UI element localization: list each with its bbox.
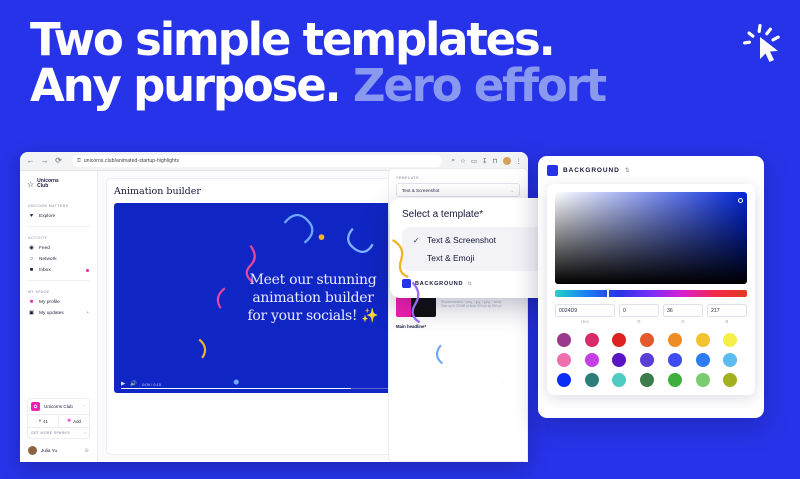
template-select-value: Text & Screenshot [402,188,439,193]
address-bar[interactable]: ⚿ unicorns.club/animated-startup-highlig… [72,155,442,167]
search-icon[interactable]: ⌕ [451,157,455,165]
color-swatch[interactable] [696,353,710,367]
g-caption: G [663,319,703,324]
color-swatch-grid [555,333,747,387]
sidebar-item-label: Network [39,257,89,262]
r-field-group: 0 R [619,304,659,324]
color-swatch[interactable] [585,373,599,387]
sparks-icon: ◑ [38,418,41,424]
network-icon: ○ [28,256,35,262]
profile-icon: ■ [28,299,35,305]
club-card: ✿ Unicorns Club ⌃ ◑ 41 ✚ Add [27,398,90,439]
page-title: Two simple templates. Any purpose. Zero … [30,18,770,108]
get-more-sparks-label: GET MORE SPARKS [31,431,70,435]
color-swatch[interactable] [557,333,571,347]
sidebar-section-label-unicorn-matters: UNICORN MATTERS [28,204,90,208]
video-text-line-3: for your socials! ✨ [248,307,379,325]
heart-icon: ♥ [28,213,35,219]
sidebar-divider-2 [27,280,90,281]
lock-icon: ⚿ [77,158,81,164]
sidebar-item-label: Explore [39,214,89,219]
stat-value: 41 [43,419,48,424]
stat-add[interactable]: ✚ Add [58,415,89,427]
club-header[interactable]: ✿ Unicorns Club ⌃ [28,399,89,414]
add-update-icon[interactable]: + [86,310,89,316]
video-progress-fill [121,388,351,389]
sidebar-item-my-updates[interactable]: ▣ My updates + [27,308,90,319]
user-avatar [28,446,37,455]
sidebar-divider-1 [27,226,90,227]
sidebar-section-label-my-space: MY SPACE [28,290,90,294]
b-field-group: 217 B [707,304,747,324]
headline-line-2: Any purpose. Zero effort [30,64,770,108]
app-sidebar: ☆ Unicorns Club UNICORN MATTERS ♥ Explor… [20,171,98,462]
reload-icon[interactable]: ⟳ [54,157,63,165]
color-swatch[interactable] [668,353,682,367]
club-icon: ✿ [31,402,40,411]
add-icon: ✚ [67,418,71,424]
color-swatch[interactable] [640,373,654,387]
sidebar-item-inbox[interactable]: ■ Inbox [27,265,90,276]
club-name: Unicorns Club [44,404,79,409]
unicorn-logo-icon: ☆ [27,180,34,189]
forward-icon[interactable]: → [40,157,49,165]
sidebar-bottom: ✿ Unicorns Club ⌃ ◑ 41 ✚ Add [27,398,90,462]
stat-sparks[interactable]: ◑ 41 [28,415,58,427]
inbox-icon: ■ [28,267,35,273]
hue-slider[interactable] [555,290,747,297]
back-icon[interactable]: ← [26,157,35,165]
form-section-label-template: TEMPLATE [396,176,520,180]
g-input[interactable]: 36 [663,304,703,317]
sidebar-item-label: My updates [39,311,82,316]
sidebar-item-explore[interactable]: ♥ Explore [27,211,90,222]
color-swatch[interactable] [668,333,682,347]
download-icon[interactable]: ↧ [482,157,487,165]
browser-toolbar-icons: ⌕ ☆ ▭ ↧ ⊓ ⋮ [451,157,522,165]
color-swatch[interactable] [585,353,599,367]
user-row[interactable]: Julia Yu ⚙ [27,444,90,457]
fullscreen-icon[interactable]: ⛶ [501,381,505,388]
headline-line-2-muted: Zero effort [353,59,605,112]
g-field-group: 36 G [663,304,703,324]
color-picker-label: BACKGROUND [563,167,620,174]
color-swatch[interactable] [612,373,626,387]
color-swatch[interactable] [557,373,571,387]
b-input[interactable]: 217 [707,304,747,317]
color-value-inputs: 0024D9 Hex 0 R 36 G 217 B [555,304,747,324]
color-swatch[interactable] [723,373,737,387]
color-swatch[interactable] [585,333,599,347]
club-stats: ◑ 41 ✚ Add [28,414,89,427]
bookmark-star-icon[interactable]: ☆ [460,157,466,165]
cart-icon[interactable]: ⊓ [492,157,497,165]
brand-logo[interactable]: ☆ Unicorns Club [27,179,90,190]
play-icon[interactable]: ▶ [121,381,125,387]
sidebar-item-label: Inbox [39,268,82,273]
card-title: Animation builder [114,186,201,197]
color-picker-card: 0024D9 Hex 0 R 36 G 217 B [547,184,755,395]
volume-icon[interactable]: 🔊 [130,381,137,387]
get-more-sparks-link[interactable]: GET MORE SPARKS › [28,427,89,438]
video-headline-text: Meet our stunning animation builder for … [248,271,379,326]
chevron-down-icon: ⌄ [511,188,514,193]
background-color-swatch[interactable] [547,165,558,176]
saturation-value-area[interactable] [555,192,747,284]
color-swatch[interactable] [640,353,654,367]
video-timestamp: 0:09 / 0:15 [142,382,161,387]
sidebar-item-feed[interactable]: ◉ Feed [27,243,90,254]
color-swatch[interactable] [557,353,571,367]
color-picker-header[interactable]: BACKGROUND ⇅ [547,165,755,176]
color-swatch[interactable] [612,353,626,367]
user-name: Julia Yu [41,448,81,453]
color-picker-knob[interactable] [738,198,743,203]
chevron-right-icon: › [85,431,87,435]
color-swatch[interactable] [612,333,626,347]
color-swatch[interactable] [696,333,710,347]
chevron-updown-icon[interactable]: ⇅ [625,167,630,174]
template-select[interactable]: Text & Screenshot ⌄ [396,183,520,197]
sidebar-item-label: My profile [39,300,89,305]
hero-section: Two simple templates. Any purpose. Zero … [30,18,770,108]
headline-line-2-white: Any purpose. [30,59,353,112]
color-picker-panel: BACKGROUND ⇅ 0024D9 Hex 0 R 36 G 217 B [538,156,764,418]
hex-input[interactable]: 0024D9 [555,304,615,317]
video-preview[interactable]: Meet our stunning animation builder for … [114,203,512,393]
profile-avatar[interactable] [503,157,511,165]
color-swatch[interactable] [668,373,682,387]
color-swatch[interactable] [723,353,737,367]
sidebar-section-label-activity: ACTIVITY [28,236,90,240]
click-cursor-icon [738,20,792,74]
color-swatch[interactable] [696,373,710,387]
r-input[interactable]: 0 [619,304,659,317]
chevron-down-icon[interactable]: ⌃ [83,404,86,409]
color-swatch[interactable] [640,333,654,347]
brand-name-line-2: Club [37,184,59,189]
b-caption: B [707,319,747,324]
hex-field-group: 0024D9 Hex [555,304,615,324]
kebab-menu-icon[interactable]: ⋮ [516,157,523,165]
video-progress-bar[interactable] [121,388,505,389]
hex-caption: Hex [555,319,615,324]
color-swatch[interactable] [723,333,737,347]
r-caption: R [619,319,659,324]
hue-slider-handle[interactable] [607,289,610,298]
updates-icon: ▣ [28,310,35,316]
gear-icon[interactable]: ⚙ [85,448,89,454]
video-controls: ▶ 🔊 0:09 / 0:15 ⛶ [114,375,512,393]
sidebar-item-my-profile[interactable]: ■ My profile [27,297,90,308]
side-panel-icon[interactable]: ▭ [471,157,477,165]
headline-line-1: Two simple templates. [30,13,553,66]
address-bar-url: unicorns.club/animated-startup-highlight… [84,158,179,164]
video-text-line-1: Meet our stunning [248,271,379,289]
feed-icon: ◉ [28,245,35,251]
sidebar-item-label: Feed [39,246,89,251]
sidebar-item-network[interactable]: ○ Network [27,254,90,265]
stat-value: Add [73,419,81,424]
inbox-unread-badge [86,269,89,272]
video-text-line-2: animation builder [248,289,379,307]
